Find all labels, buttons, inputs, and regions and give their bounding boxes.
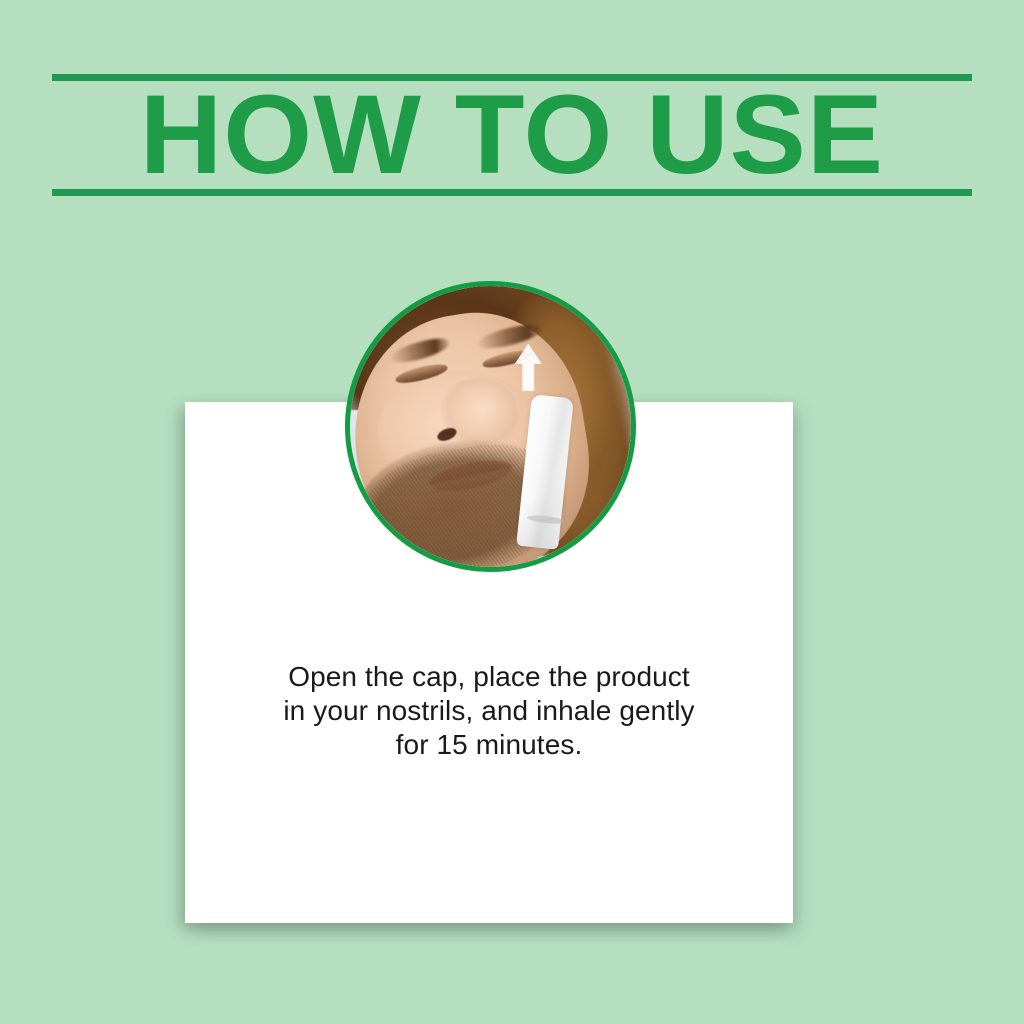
header: HOW TO USE: [52, 74, 972, 196]
up-arrow-icon: [510, 342, 547, 393]
page-title-wrap: HOW TO USE: [52, 81, 972, 189]
poster-canvas: HOW TO USE Open the cap, place the produ…: [0, 0, 1024, 1024]
page-title: HOW TO USE: [140, 79, 884, 191]
circle-photo: [345, 281, 636, 572]
instructions-text: Open the cap, place the product in your …: [185, 660, 793, 762]
circle-photo-image: [350, 286, 631, 567]
